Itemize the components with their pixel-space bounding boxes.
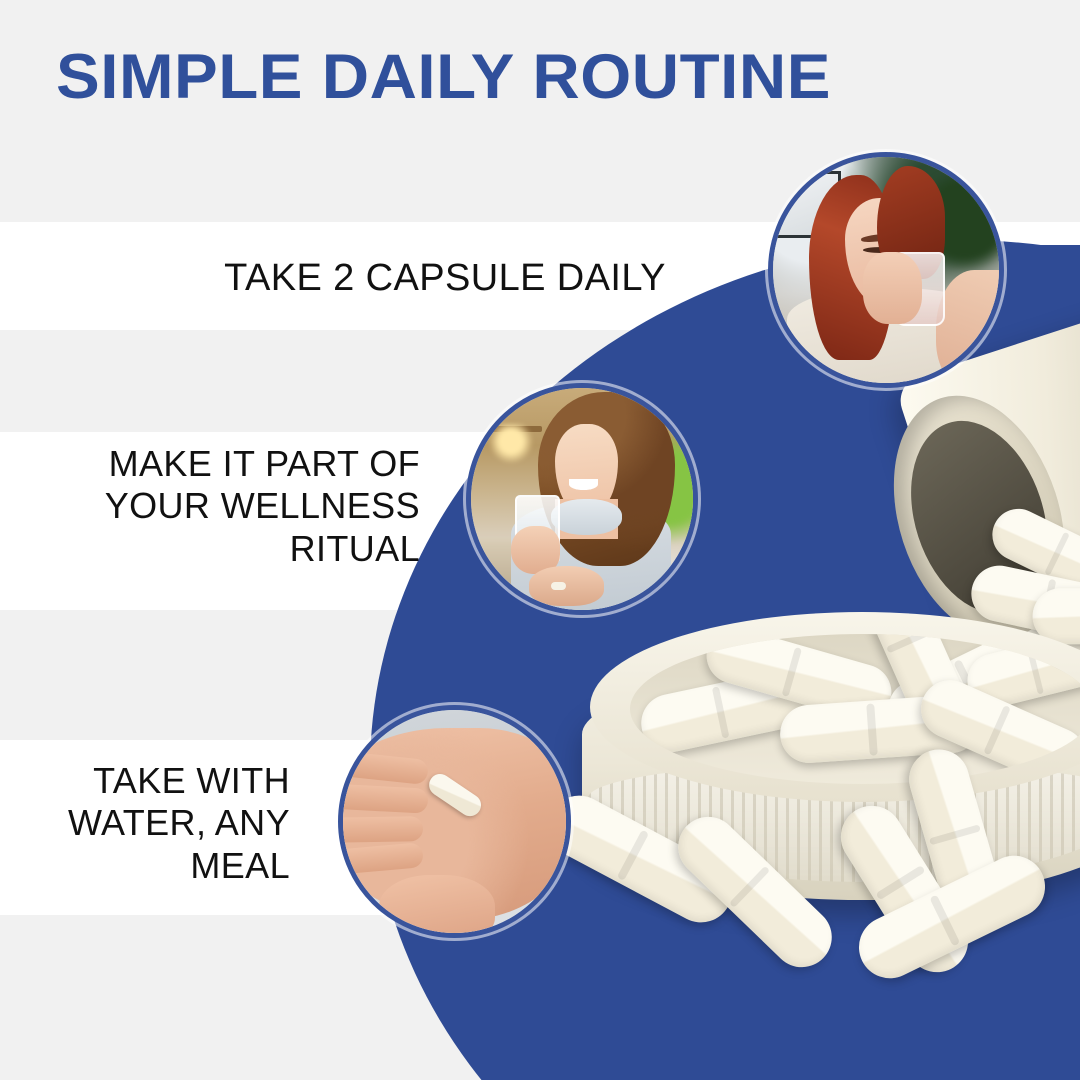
open-hand: [529, 566, 604, 606]
thumb: [379, 875, 495, 938]
photo-circle-woman-with-glass-and-pill: [466, 383, 698, 615]
turtleneck-collar: [551, 499, 622, 535]
finger: [338, 783, 428, 813]
photo-open-palm-capsule: [343, 710, 566, 933]
hand: [863, 252, 922, 324]
smile: [569, 479, 598, 490]
page-title: SIMPLE DAILY ROUTINE: [56, 44, 831, 111]
photo-woman-drinking-water: [773, 157, 999, 383]
photo-circle-palm-with-capsule: [338, 705, 571, 938]
lamp-glow: [489, 424, 533, 464]
step-2-caption: MAKE IT PART OF YOUR WELLNESS RITUAL: [60, 443, 420, 570]
finger: [338, 816, 423, 842]
poster-canvas: SIMPLE DAILY ROUTINE TAKE 2 CAPSULE DAIL…: [0, 0, 1080, 1080]
arm: [936, 270, 1004, 388]
step-1-caption: TAKE 2 CAPSULE DAILY: [180, 256, 710, 301]
capsule-in-hand: [551, 582, 567, 590]
photo-woman-wellness-ritual: [471, 388, 693, 610]
photo-circle-woman-drinking-water: [768, 152, 1004, 388]
step-3-caption: TAKE WITH WATER, ANY MEAL: [45, 760, 290, 887]
